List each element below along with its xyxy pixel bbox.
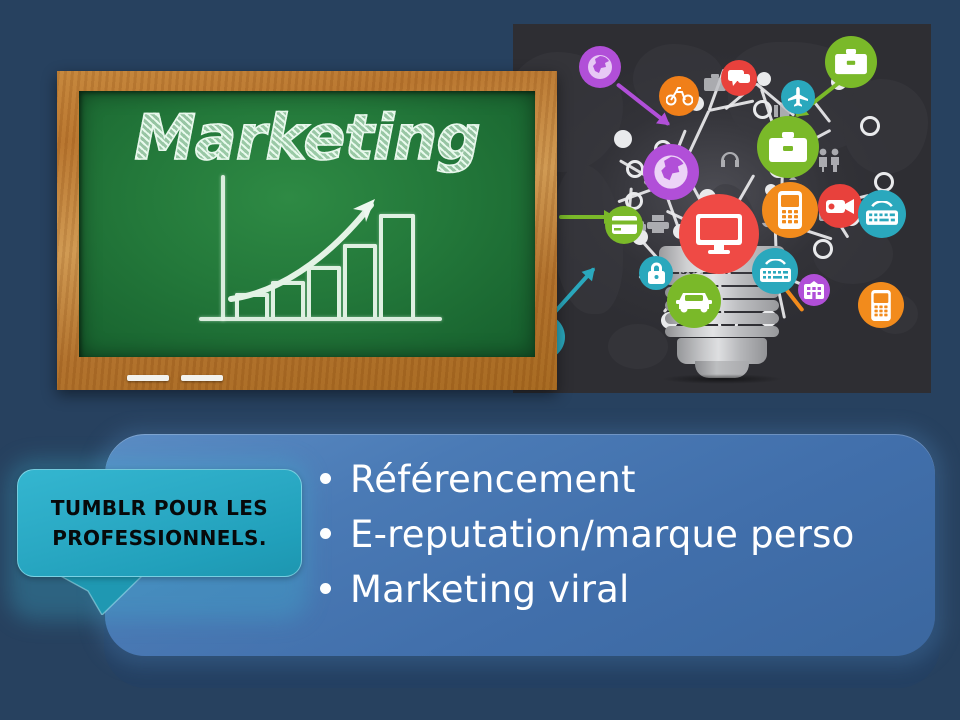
chalk-stick (127, 375, 169, 381)
connector-dot (874, 172, 894, 192)
slide-canvas: Marketing (0, 0, 960, 720)
list-item[interactable]: Référencement (320, 452, 911, 507)
chart-trend-arrow (213, 175, 428, 325)
bullet-dot-icon (320, 528, 331, 539)
connector-dot (813, 239, 833, 259)
node-globe-icon (579, 46, 621, 88)
node-mobile-phone-icon (762, 182, 818, 238)
bullet-dot-icon (320, 473, 331, 484)
list-item[interactable]: Marketing viral (320, 562, 911, 617)
node-car-icon (667, 274, 721, 328)
chalkboard-image: Marketing (57, 71, 557, 390)
connector-dot (860, 116, 880, 136)
bullet-dot-icon (320, 583, 331, 594)
chalkboard-title: Marketing (79, 101, 535, 174)
node-monitor-icon (679, 194, 759, 274)
callout-bubble[interactable]: TUMBLR POUR LES PROFESSIONNELS. (17, 469, 302, 577)
chalkboard-surface: Marketing (79, 91, 535, 357)
list-item[interactable]: E-reputation/marque perso (320, 507, 911, 562)
node-mobile-phone-icon (858, 282, 904, 328)
connector-dot (753, 100, 772, 119)
connector-dot (614, 130, 632, 148)
node-typewriter-icon (752, 248, 798, 294)
connector-dot (757, 72, 771, 86)
bullet-label: Référencement (350, 452, 636, 507)
node-credit-card-icon (605, 206, 643, 244)
node-lock-icon (639, 256, 673, 290)
callout-text: TUMBLR POUR LES PROFESSIONNELS. (51, 493, 268, 553)
callout-tail (55, 573, 145, 615)
callout-line-2: PROFESSIONNELS. (51, 523, 268, 553)
node-chat-icon (721, 60, 757, 96)
bullet-list: Référencement E-reputation/marque perso … (320, 452, 911, 617)
people-icon (816, 148, 842, 172)
chalk-bar-chart (199, 175, 449, 335)
node-globe-icon (643, 144, 699, 200)
infographic-image (513, 24, 931, 393)
callout-line-1: TUMBLR POUR LES (51, 493, 268, 523)
node-building-icon (798, 274, 830, 306)
headphones-icon (718, 151, 742, 173)
node-video-camera-icon (818, 184, 862, 228)
printer-icon (646, 214, 670, 234)
bullet-label: Marketing viral (350, 562, 630, 617)
chalk-stick (181, 375, 223, 381)
node-briefcase-icon (757, 116, 819, 178)
node-typewriter-icon (858, 190, 906, 238)
node-airplane-icon (781, 80, 815, 114)
node-briefcase-icon (825, 36, 877, 88)
node-bicycle-icon (659, 76, 699, 116)
bullet-label: E-reputation/marque perso (350, 507, 854, 562)
